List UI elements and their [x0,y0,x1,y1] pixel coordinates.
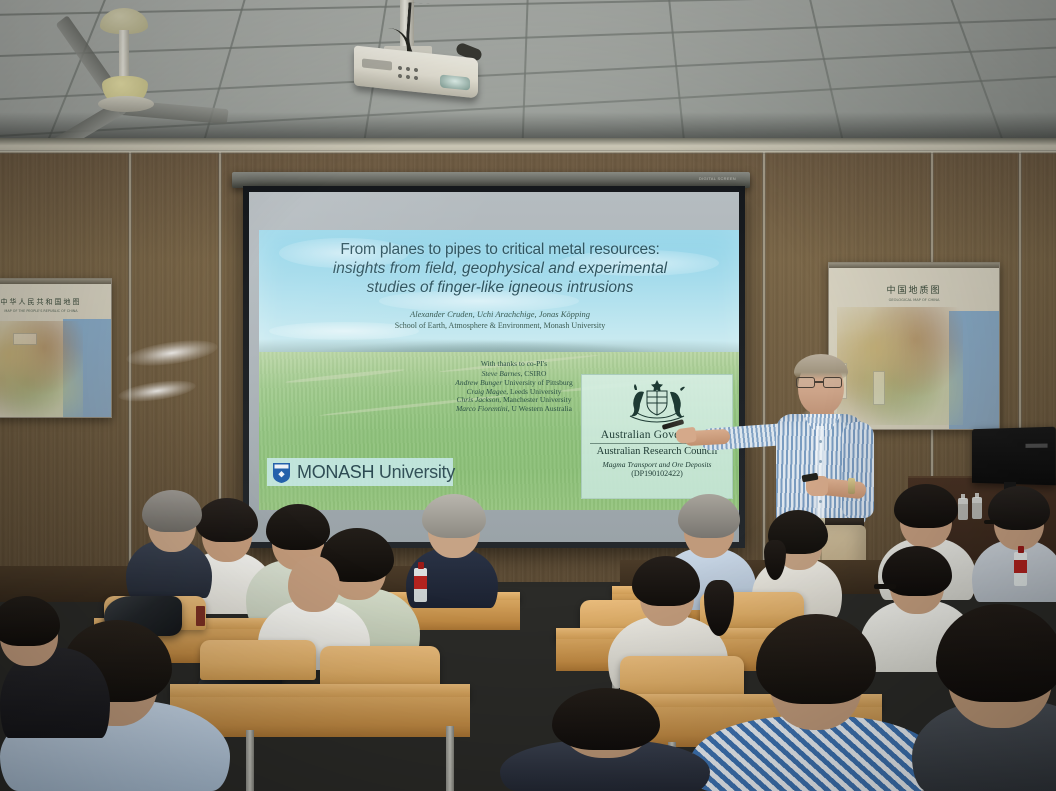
map-left-subtitle: MAP OF THE PEOPLE'S REPUBLIC OF CHINA [0,309,111,313]
water-bottle [958,498,968,520]
presentation-monitor [972,427,1056,486]
screen-brand-label: DIGITAL SCREEN [699,176,736,181]
thanks-heading: With thanks to co-PI's [409,359,619,368]
thanks-org: University of Pittsburg [504,378,573,387]
lecture-hall-photo: 中华人民共和国地图 MAP OF THE PEOPLE'S REPUBLIC O… [0,0,1056,791]
water-bottle [414,568,427,602]
monash-shield-icon [272,462,291,483]
thanks-name: Craig Magee [467,387,507,396]
monash-logo-text: MONASH University [297,462,455,483]
thanks-org: CSIRO [524,369,546,378]
presenter-wristwatch [848,478,855,494]
thanks-org: Manchester University [503,395,572,404]
thanks-name: Steve Barnes [482,369,521,378]
monitor-brand-label [1026,444,1048,448]
slide-affiliation: School of Earth, Atmosphere & Environmen… [259,321,739,330]
slide-authors: Alexander Cruden, Uchi Arachchige, Jonas… [259,309,739,320]
map-right-title: 中国地质图 [829,283,999,296]
presentation-slide: From planes to pipes to critical metal r… [259,230,739,510]
water-bottle [1014,552,1027,586]
map-left-title: 中华人民共和国地图 [0,297,111,307]
slide-title: From planes to pipes to critical metal r… [259,240,739,297]
water-bottle [972,497,982,519]
projection-screen: From planes to pipes to critical metal r… [243,186,745,548]
ceiling-projector [348,0,518,110]
presenter-right-arm [842,422,874,518]
map-right-subtitle: GEOLOGICAL MAP OF CHINA [829,298,999,302]
ceiling-fan [40,0,210,116]
thanks-org: Leeds University [510,387,561,396]
thanks-name: Andrew Bunger [455,378,502,387]
monash-university-logo: MONASH University [267,458,453,486]
wall-map-left: 中华人民共和国地图 MAP OF THE PEOPLE'S REPUBLIC O… [0,278,112,418]
presenter-left-hand [675,427,697,445]
presenter-glasses-icon [796,377,846,388]
slide-title-line3: studies of finger-like igneous intrusion… [259,278,739,297]
screen-surface: From planes to pipes to critical metal r… [249,192,739,542]
slide-title-line2: insights from field, geophysical and exp… [259,259,739,278]
monash-wordmark: MONASH [297,462,374,482]
slide-title-line1: From planes to pipes to critical metal r… [259,240,739,259]
thanks-name: Marco Fiorentini [456,404,508,413]
thanks-name: Chris Jackson [457,395,500,404]
thanks-org: U Western Australia [511,404,572,413]
monash-university-word: University [379,462,455,482]
